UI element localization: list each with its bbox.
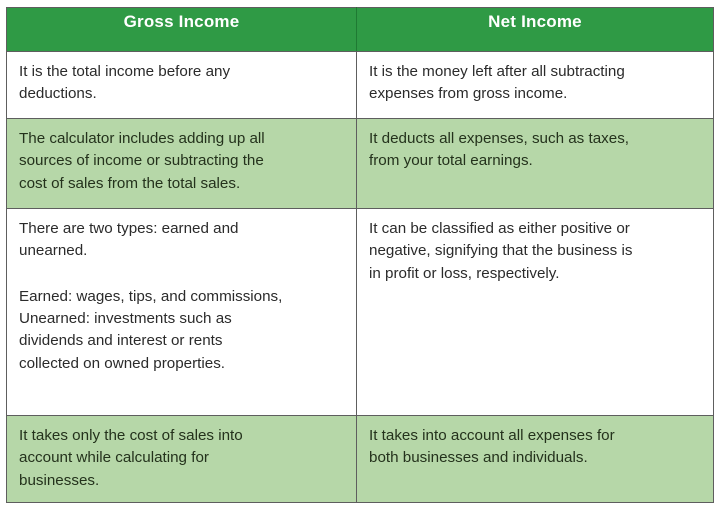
cell-net-income-3: It can be classified as either positive … xyxy=(357,209,714,416)
table-row: There are two types: earned and unearned… xyxy=(7,209,714,416)
table-header: Gross Income Net Income xyxy=(7,8,714,52)
cell-paragraph: It is the total income before any deduct… xyxy=(19,61,344,106)
cell-paragraph: It takes only the cost of sales into acc… xyxy=(19,425,344,492)
cell-gross-income-2: The calculator includes adding up all so… xyxy=(7,119,357,209)
table-body: It is the total income before any deduct… xyxy=(7,52,714,503)
cell-gross-income-3: There are two types: earned and unearned… xyxy=(7,209,357,416)
cell-paragraph: Earned: wages, tips, and commissions, Un… xyxy=(19,286,344,375)
cell-paragraph: The calculator includes adding up all so… xyxy=(19,128,344,195)
cell-paragraph: It is the money left after all subtracti… xyxy=(369,61,701,106)
column-header-net-income: Net Income xyxy=(357,8,714,52)
cell-paragraph: There are two types: earned and unearned… xyxy=(19,218,344,263)
column-header-gross-income: Gross Income xyxy=(7,8,357,52)
cell-net-income-1: It is the money left after all subtracti… xyxy=(357,52,714,119)
table-row: It is the total income before any deduct… xyxy=(7,52,714,119)
gross-vs-net-income-table: Gross Income Net Income It is the total … xyxy=(6,7,714,503)
cell-paragraph: It takes into account all expenses for b… xyxy=(369,425,701,470)
comparison-table-page: Gross Income Net Income It is the total … xyxy=(0,0,720,510)
cell-paragraph: It deducts all expenses, such as taxes, … xyxy=(369,128,701,173)
cell-net-income-4: It takes into account all expenses for b… xyxy=(357,416,714,503)
cell-paragraph: It can be classified as either positive … xyxy=(369,218,701,285)
cell-net-income-2: It deducts all expenses, such as taxes, … xyxy=(357,119,714,209)
table-row: It takes only the cost of sales into acc… xyxy=(7,416,714,503)
table-header-row: Gross Income Net Income xyxy=(7,8,714,52)
cell-gross-income-1: It is the total income before any deduct… xyxy=(7,52,357,119)
table-row: The calculator includes adding up all so… xyxy=(7,119,714,209)
cell-gross-income-4: It takes only the cost of sales into acc… xyxy=(7,416,357,503)
